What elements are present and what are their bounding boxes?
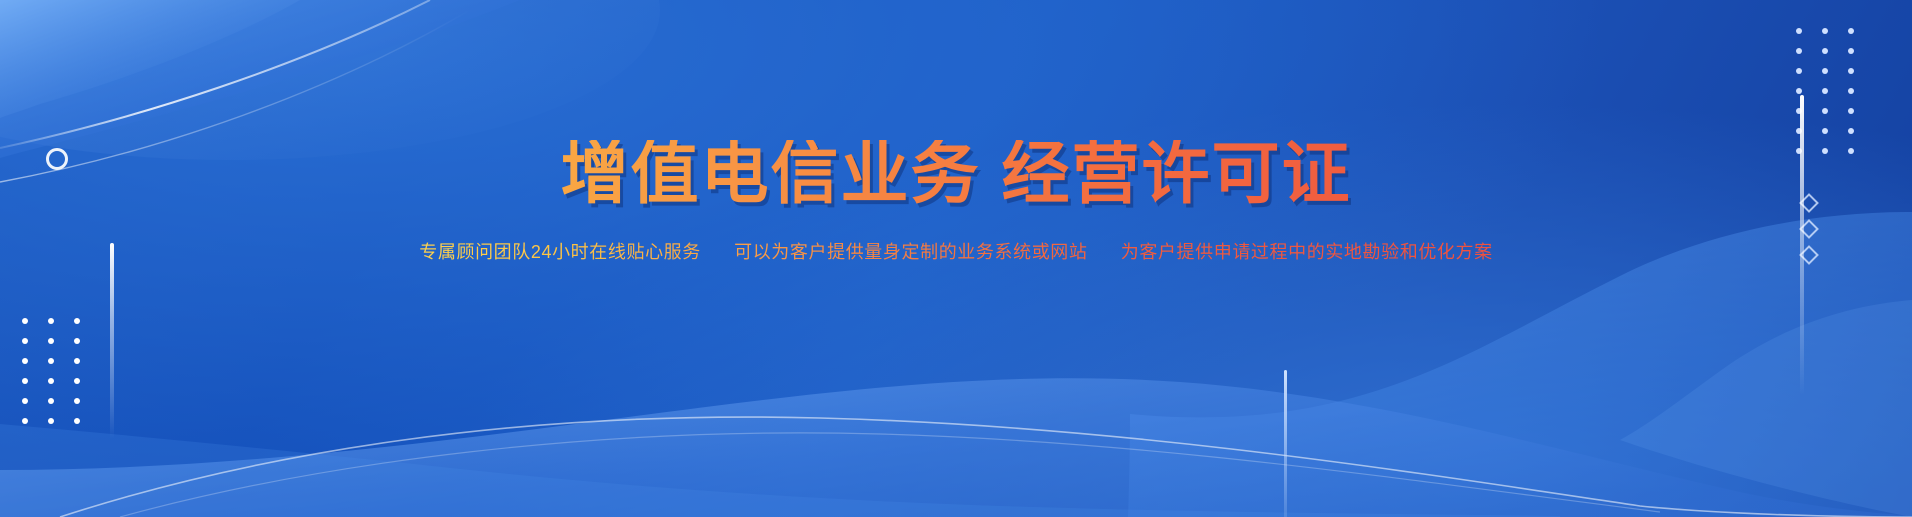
dot bbox=[48, 358, 54, 364]
dot bbox=[22, 378, 28, 384]
subtitle-part-1: 专属顾问团队24小时在线贴心服务 bbox=[419, 242, 701, 262]
dot bbox=[74, 418, 80, 424]
accent-bar-center bbox=[1284, 370, 1287, 517]
dot bbox=[22, 338, 28, 344]
banner-subtitle: 专属顾问团队24小时在线贴心服务 可以为客户提供量身定制的业务系统或网站 为客户… bbox=[419, 242, 1492, 264]
subtitle-part-2: 可以为客户提供量身定制的业务系统或网站 bbox=[734, 242, 1087, 262]
dot bbox=[48, 398, 54, 404]
dot bbox=[22, 358, 28, 364]
subtitle-part-3: 为客户提供申请过程中的实地勘验和优化方案 bbox=[1121, 242, 1493, 262]
dot bbox=[74, 358, 80, 364]
dot bbox=[74, 318, 80, 324]
dot bbox=[48, 318, 54, 324]
promo-banner: 增值电信业务 经营许可证 专属顾问团队24小时在线贴心服务 可以为客户提供量身定… bbox=[0, 0, 1912, 517]
dot bbox=[74, 398, 80, 404]
dot bbox=[48, 338, 54, 344]
dot bbox=[48, 378, 54, 384]
dot bbox=[74, 338, 80, 344]
accent-bar-left bbox=[110, 243, 114, 439]
dot-grid-left bbox=[22, 318, 80, 424]
dot bbox=[22, 418, 28, 424]
dot bbox=[74, 378, 80, 384]
dot bbox=[22, 398, 28, 404]
dot bbox=[22, 318, 28, 324]
dot bbox=[48, 418, 54, 424]
banner-content: 增值电信业务 经营许可证 专属顾问团队24小时在线贴心服务 可以为客户提供量身定… bbox=[0, 0, 1912, 264]
banner-title: 增值电信业务 经营许可证 bbox=[0, 140, 1912, 208]
